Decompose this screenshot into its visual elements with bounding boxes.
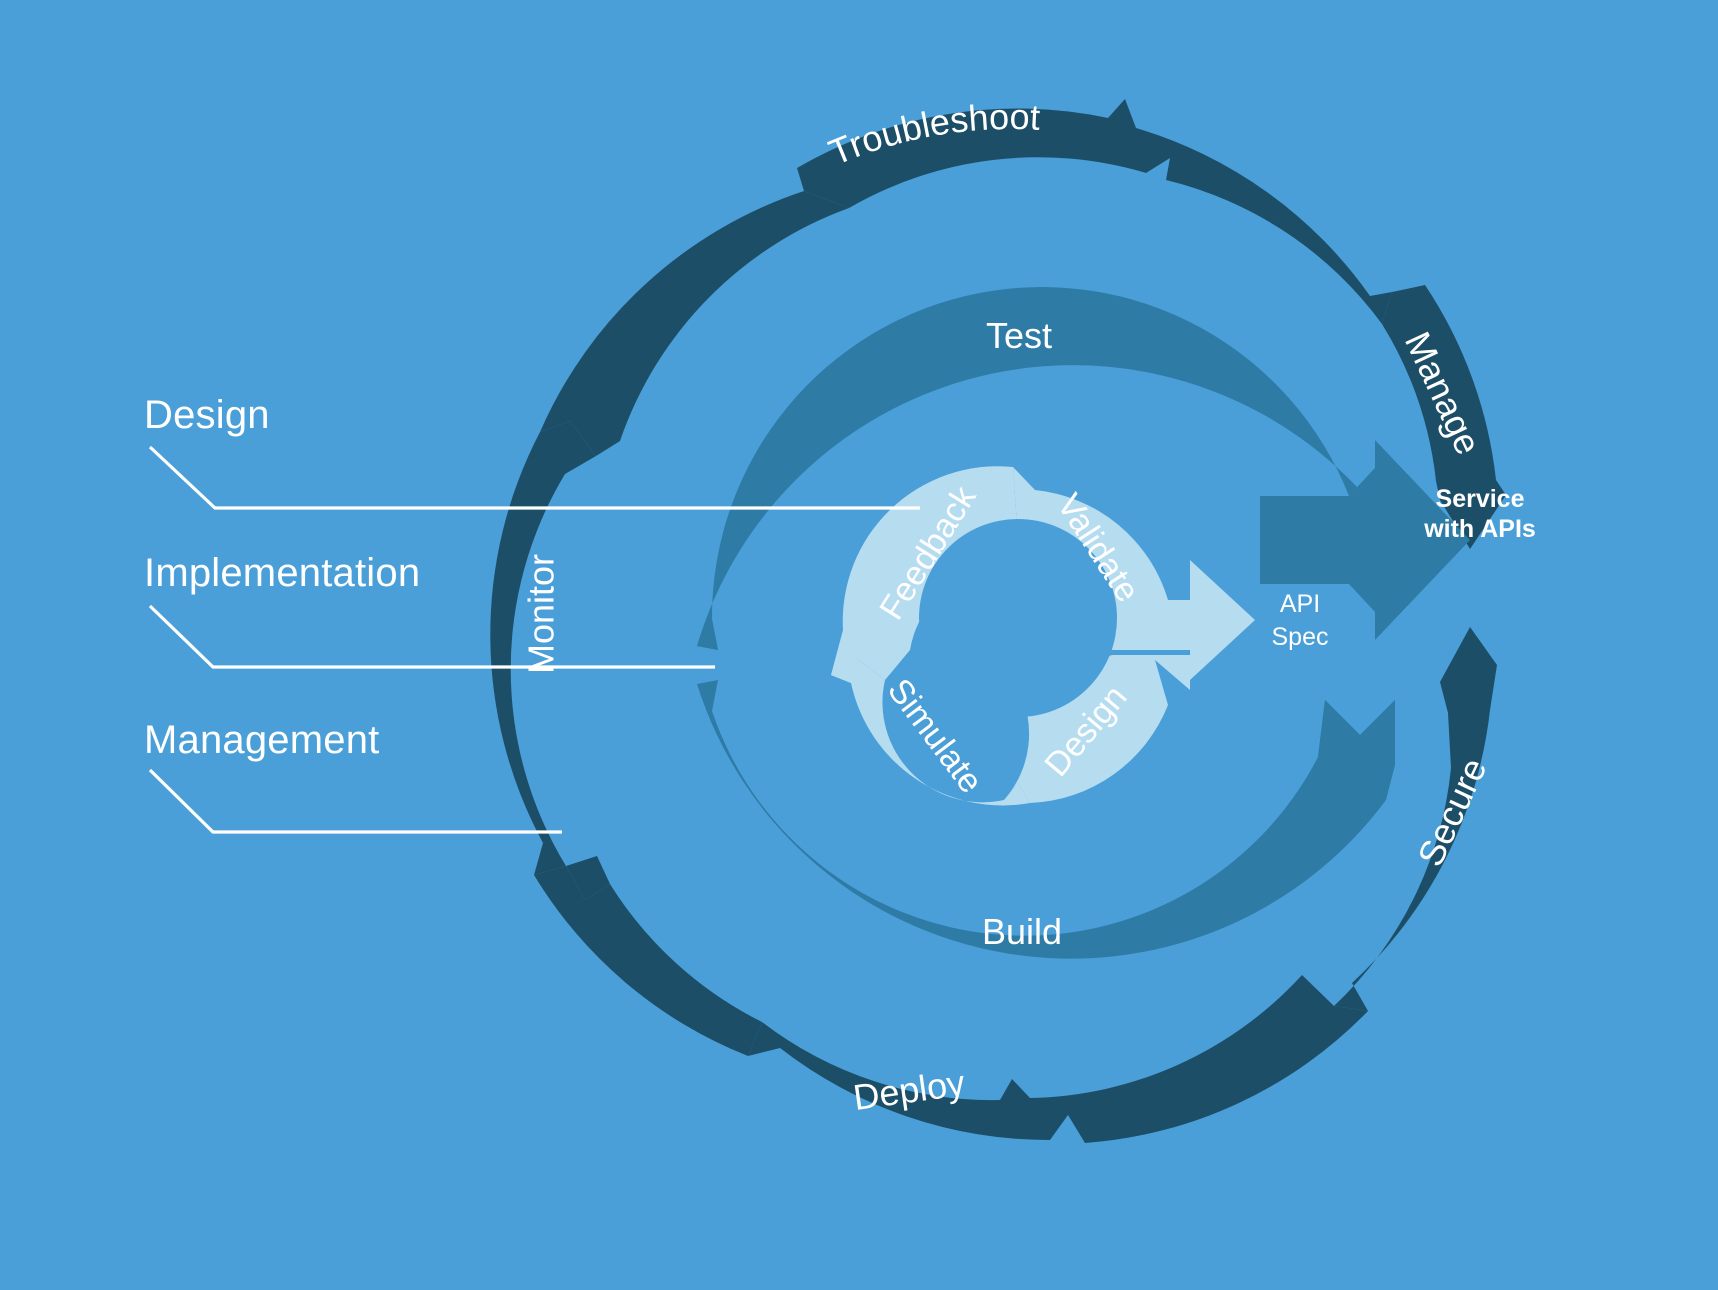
service-line1: Service [1436,485,1525,513]
diagram-canvas: Troubleshoot Manage Secure Deploy Monito… [0,0,1718,1290]
side-label-management: Management [144,718,379,763]
middle-label-build: Build [982,911,1062,952]
outer-label-monitor: Monitor [521,554,562,674]
api-spec-line1: API [1280,590,1320,618]
side-label-design: Design [144,393,270,438]
side-label-implementation: Implementation [144,551,420,596]
service-line2: with APIs [1423,515,1536,543]
concentric-api-lifecycle-diagram: Troubleshoot Manage Secure Deploy Monito… [0,0,1718,1290]
middle-label-test: Test [986,315,1052,356]
api-spec-line2: Spec [1272,623,1329,651]
